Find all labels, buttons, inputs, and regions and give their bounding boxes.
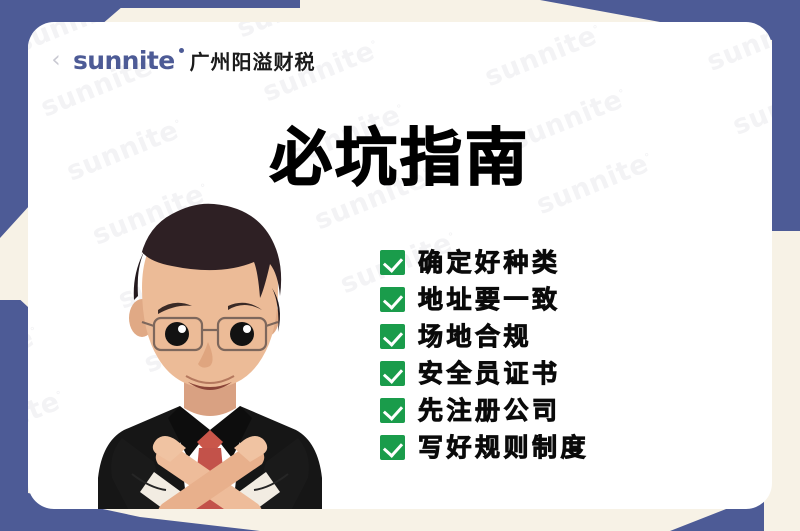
sunnite-logo: sunnite — [73, 48, 175, 73]
watermark-text: sunnite° — [28, 310, 69, 405]
checklist-item-label: 先注册公司 — [418, 398, 561, 423]
checklist-item-label: 地址要一致 — [418, 287, 561, 312]
checklist-item[interactable]: 先注册公司 — [380, 398, 589, 423]
checklist-item[interactable]: 确定好种类 — [380, 250, 589, 275]
checkmark-icon[interactable] — [380, 324, 405, 349]
company-name-label: 广州阳溢财税 — [190, 46, 316, 75]
checklist-item-label: 写好规则制度 — [418, 435, 589, 460]
sunnite-logo-text: sunnite — [73, 46, 175, 75]
checklist-item[interactable]: 写好规则制度 — [380, 435, 589, 460]
logo-dot-icon — [179, 48, 184, 53]
checkmark-icon[interactable] — [380, 287, 405, 312]
checkmark-icon[interactable] — [380, 435, 405, 460]
page-title: 必坑指南 — [28, 127, 772, 189]
checklist-item-label: 确定好种类 — [418, 250, 561, 275]
checklist-item-label: 场地合规 — [418, 324, 532, 349]
watermark-text: sunnite° — [651, 22, 772, 24]
brand-header: ‹ sunnite 广州阳溢财税 — [48, 46, 316, 75]
poster-canvas: sunnite°sunnite°sunnite°sunnite°sunnite°… — [0, 0, 800, 531]
checkmark-icon[interactable] — [380, 250, 405, 275]
checklist-item[interactable]: 安全员证书 — [380, 361, 589, 386]
checklist-item[interactable]: 地址要一致 — [380, 287, 589, 312]
checklist-item-label: 安全员证书 — [418, 361, 561, 386]
checkmark-icon[interactable] — [380, 361, 405, 386]
watermark-text: sunnite° — [429, 22, 605, 39]
content-card: sunnite°sunnite°sunnite°sunnite°sunnite°… — [28, 22, 772, 509]
checklist: 确定好种类地址要一致场地合规安全员证书先注册公司写好规则制度 — [380, 250, 589, 460]
back-chevron-icon[interactable]: ‹ — [48, 50, 64, 72]
watermark-text: sunnite° — [455, 22, 631, 103]
businessman-illustration — [76, 192, 344, 509]
watermark-text: sunnite° — [677, 22, 772, 88]
watermark-text: sunnite° — [28, 246, 43, 341]
checkmark-icon[interactable] — [380, 398, 405, 423]
checklist-item[interactable]: 场地合规 — [380, 324, 589, 349]
